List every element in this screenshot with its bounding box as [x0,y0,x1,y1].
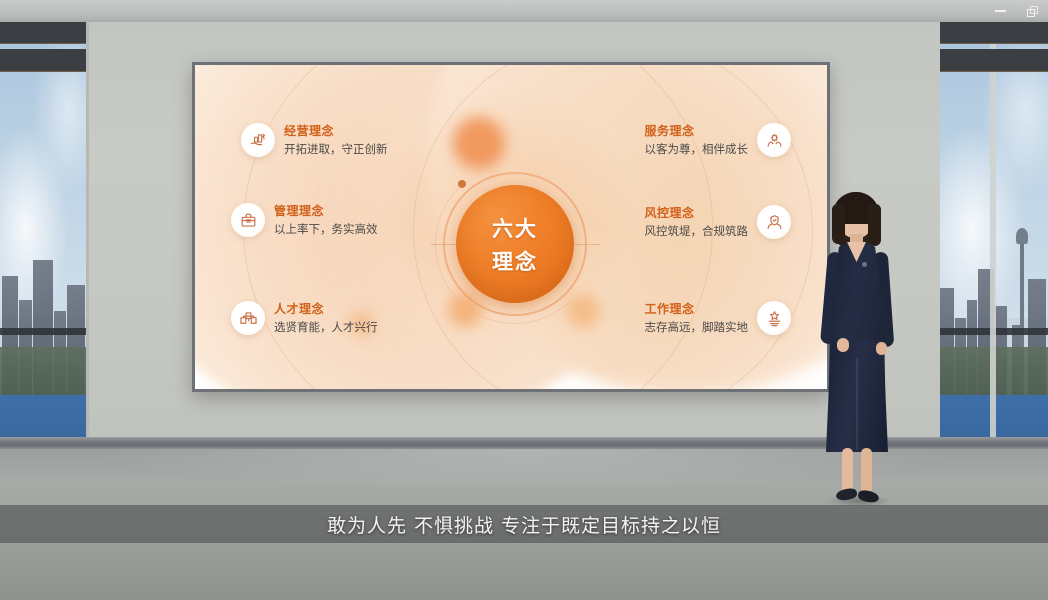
handshake-growth-icon [241,123,275,157]
concept-item-right-2[interactable]: 风控理念 风控筑堤，合规筑路 [645,205,792,239]
concept-subtitle: 以上率下，务实高效 [274,222,378,236]
hands-gear-icon [757,123,791,157]
studio-scene: 六大 理念 经营理念 开拓进取，守正创新 [0,0,1048,600]
avatar-dress-seam [856,358,858,450]
subtitle-bar: 敢为人先 不惧挑战 专注于既定目标持之以恒 [0,505,1048,543]
concept-item-right-3[interactable]: 工作理念 志存高远，脚踏实地 [645,301,792,335]
treeline [0,347,86,395]
subtitle-text: 敢为人先 不惧挑战 专注于既定目标持之以恒 [327,511,721,538]
restore-button[interactable] [1016,0,1048,22]
avatar-lapel-pin-icon [862,262,867,267]
concept-subtitle: 开拓进取，守正创新 [284,142,388,156]
window-left [0,22,86,500]
avatar-hair-left [832,204,845,244]
concept-title: 管理理念 [274,204,378,219]
center-circle-fill: 六大 理念 [456,185,574,303]
concept-title: 工作理念 [645,302,749,317]
virtual-presenter-avatar [800,190,910,510]
balcony-rail [0,328,86,335]
minimize-icon [995,10,1006,12]
concept-item-left-1[interactable]: 经营理念 开拓进取，守正创新 [241,123,388,157]
wall-edge [86,22,89,444]
restore-icon [1027,6,1038,17]
center-line-1: 六大 [492,213,538,243]
concept-subtitle: 选贤育能，人才兴行 [274,320,378,334]
concept-item-right-1[interactable]: 服务理念 以客为尊，相伴成长 [645,123,792,157]
concept-title: 风控理念 [645,206,749,221]
concept-item-left-3[interactable]: 人才理念 选贤育能，人才兴行 [231,301,378,335]
minimize-button[interactable] [984,0,1016,22]
slide-canvas: 六大 理念 经营理念 开拓进取，守正创新 [195,65,827,389]
hands-shield-icon [757,205,791,239]
avatar-leg-left [842,448,853,494]
target-star-icon [757,301,791,335]
avatar-hand-left [837,338,849,352]
avatar-hand-right [876,342,887,355]
concept-subtitle: 以客为尊，相伴成长 [645,142,749,156]
concept-subtitle: 志存高远，脚踏实地 [645,320,749,334]
decor-dot [453,117,505,169]
avatar-hair-right [868,204,881,246]
avatar-leg-right [861,448,872,494]
concept-title: 经营理念 [284,124,388,139]
window-right [940,22,1048,500]
concept-title: 服务理念 [645,124,749,139]
concept-subtitle: 风控筑堤，合规筑路 [645,224,749,238]
team-people-icon [231,301,265,335]
concept-item-left-2[interactable]: 管理理念 以上率下，务实高效 [231,203,378,237]
center-circle: 六大 理念 [456,185,574,303]
presentation-screen[interactable]: 六大 理念 经营理念 开拓进取，守正创新 [192,62,830,392]
window-titlebar[interactable] [0,0,1048,22]
briefcase-icon [231,203,265,237]
concept-title: 人才理念 [274,302,378,317]
center-line-2: 理念 [492,246,538,276]
